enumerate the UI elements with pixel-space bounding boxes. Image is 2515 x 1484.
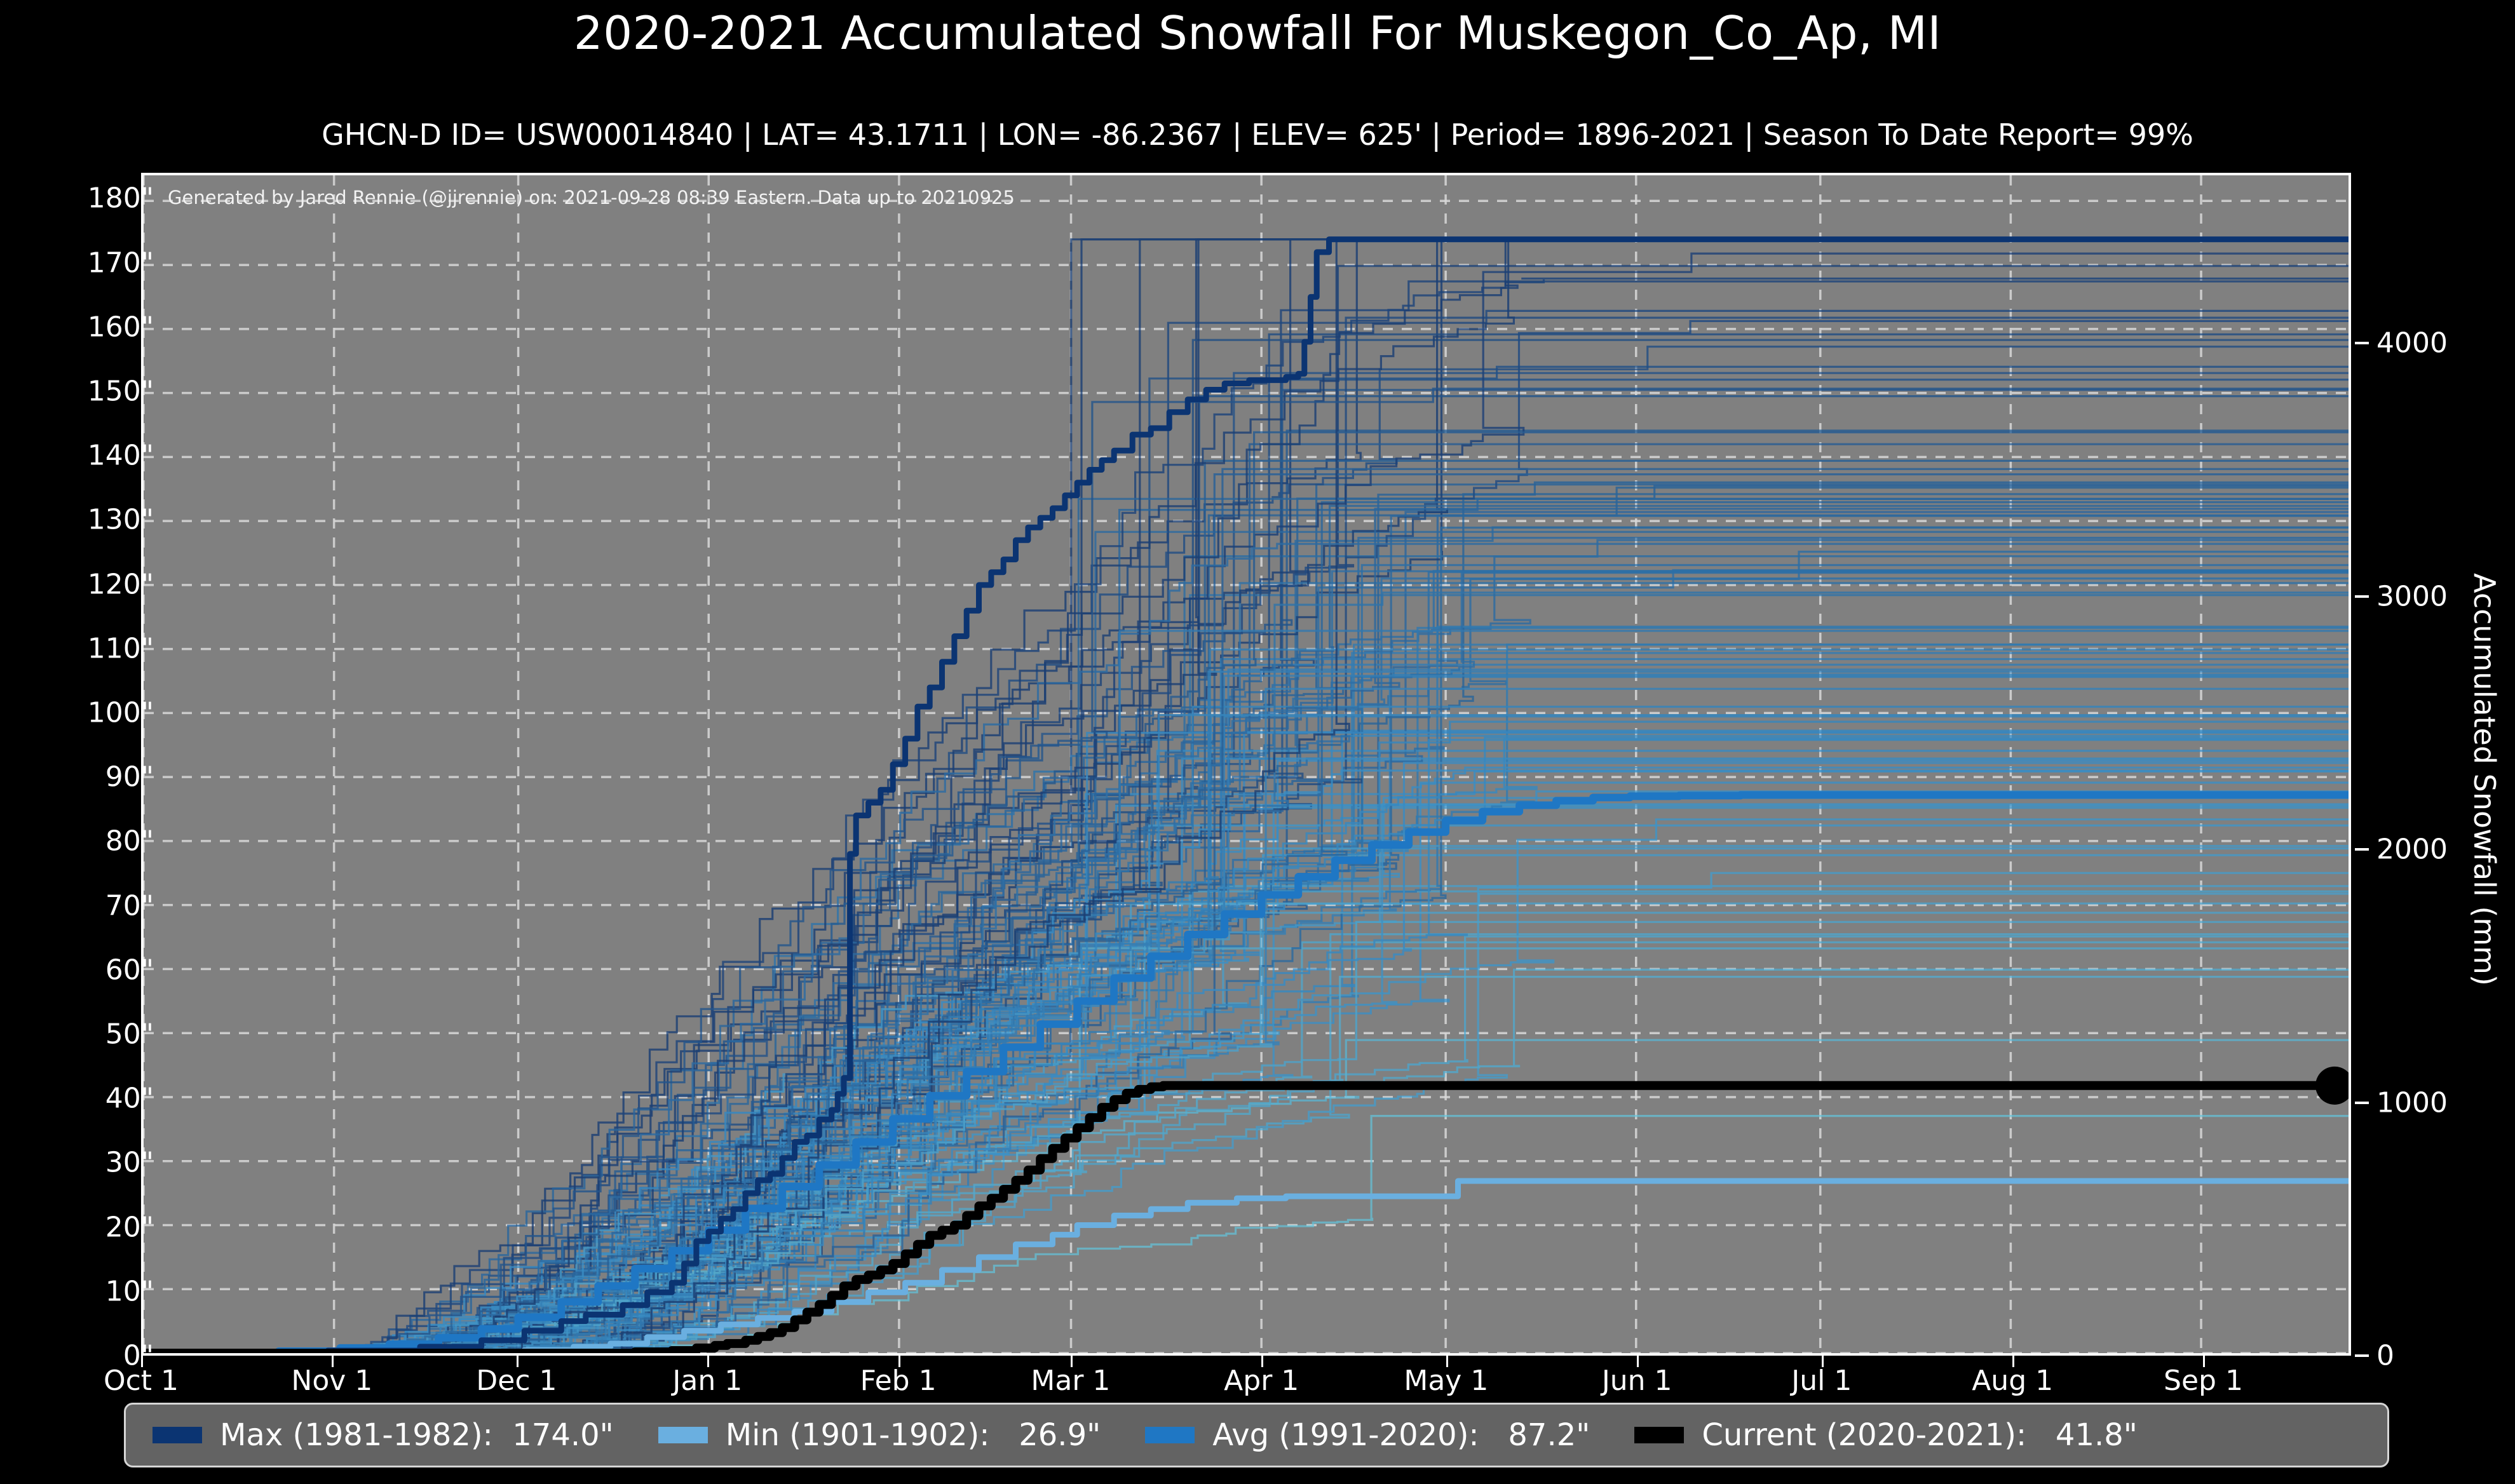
historical-trace	[144, 808, 2349, 1353]
y-axis-label-right: Accumulated Snowfall (mm)	[2467, 557, 2502, 1002]
legend-entry-min-series[interactable]: Min (1901-1902): 26.9"	[658, 1417, 1101, 1453]
legend-label-avg-series: Avg (1991-2020): 87.2"	[1212, 1417, 1590, 1453]
historical-trace	[144, 934, 2349, 1353]
historical-trace	[144, 380, 2349, 1353]
y-tick-label-left: 160"	[88, 311, 154, 343]
x-tick-label: Jun 1	[1602, 1365, 1672, 1397]
chart-annotation: Generated by Jared Rennie (@jjrennie) on…	[168, 187, 1015, 208]
y-tick-label-left: 70"	[105, 889, 154, 922]
chart-canvas	[144, 175, 2349, 1353]
y-tick-mark-right	[2355, 342, 2369, 344]
x-tick-label: Mar 1	[1031, 1365, 1110, 1397]
x-tick-label: Aug 1	[1972, 1365, 2053, 1397]
series-current	[144, 1067, 2349, 1353]
x-tick-label: May 1	[1404, 1365, 1488, 1397]
y-tick-label-left: 170"	[88, 246, 154, 279]
historical-trace	[144, 281, 2349, 1353]
legend-swatch-min-series	[658, 1427, 708, 1443]
chart-legend: Max (1981-1982): 174.0"Min (1901-1902): …	[124, 1403, 2389, 1467]
y-tick-label-left: 140"	[88, 440, 154, 472]
y-tick-label-right: 4000	[2376, 327, 2448, 360]
x-tick-label: Sep 1	[2164, 1365, 2243, 1397]
y-tick-label-left: 40"	[105, 1083, 154, 1115]
y-tick-mark-right	[2355, 1354, 2369, 1357]
y-tick-label-left: 50"	[105, 1018, 154, 1051]
y-tick-label-left: 30"	[105, 1147, 154, 1179]
legend-label-max-series: Max (1981-1982): 174.0"	[220, 1417, 614, 1453]
legend-entry-max-series[interactable]: Max (1981-1982): 174.0"	[153, 1417, 614, 1453]
y-tick-label-left: 100"	[88, 697, 154, 729]
y-tick-label-left: 60"	[105, 954, 154, 986]
historical-trace	[144, 527, 2349, 1353]
x-tick-label: Apr 1	[1224, 1365, 1299, 1397]
y-tick-mark-right	[2355, 595, 2369, 598]
historical-trace	[144, 573, 2349, 1353]
x-tick-label: Oct 1	[104, 1365, 179, 1397]
y-tick-label-right: 3000	[2376, 580, 2448, 612]
x-tick-label: Jan 1	[672, 1365, 742, 1397]
y-tick-label-right: 0	[2376, 1340, 2394, 1372]
historical-trace	[144, 538, 2349, 1353]
y-tick-label-left: 10"	[105, 1275, 154, 1307]
page-title: 2020-2021 Accumulated Snowfall For Muske…	[0, 6, 2515, 60]
legend-label-min-series: Min (1901-1902): 26.9"	[726, 1417, 1101, 1453]
y-tick-label-left: 20"	[105, 1211, 154, 1243]
plot-background: Generated by Jared Rennie (@jjrennie) on…	[141, 173, 2351, 1356]
legend-swatch-current-series	[1634, 1427, 1684, 1443]
historical-trace	[144, 761, 2349, 1354]
historical-trace	[144, 886, 2349, 1353]
x-tick-label: Feb 1	[860, 1365, 937, 1397]
y-tick-label-left: 120"	[88, 568, 154, 600]
historical-trace	[144, 671, 2349, 1353]
y-tick-label-right: 1000	[2376, 1086, 2448, 1119]
page-subtitle: GHCN-D ID= USW00014840 | LAT= 43.1711 | …	[0, 118, 2515, 152]
y-tick-label-left: 130"	[88, 504, 154, 536]
historical-trace	[144, 528, 2349, 1353]
legend-label-current-series: Current (2020-2021): 41.8"	[1702, 1417, 2138, 1453]
legend-entry-current-series[interactable]: Current (2020-2021): 41.8"	[1634, 1417, 2138, 1453]
y-tick-mark-right	[2355, 1102, 2369, 1104]
y-tick-label-right: 2000	[2376, 833, 2448, 866]
y-tick-mark-right	[2355, 848, 2369, 851]
historical-trace	[144, 677, 2349, 1353]
historical-trace	[144, 279, 2349, 1354]
x-tick-label: Jul 1	[1791, 1365, 1852, 1397]
historical-trace	[144, 570, 2349, 1354]
x-tick-label: Nov 1	[291, 1365, 372, 1397]
y-tick-label-left: 150"	[88, 375, 154, 408]
y-tick-label-left: 90"	[105, 761, 154, 793]
historical-trace	[144, 936, 2349, 1353]
historical-trace	[144, 722, 2349, 1353]
chart-plot-area: Generated by Jared Rennie (@jjrennie) on…	[141, 173, 2351, 1356]
x-tick-label: Dec 1	[476, 1365, 557, 1397]
legend-entry-avg-series[interactable]: Avg (1991-2020): 87.2"	[1145, 1417, 1590, 1453]
historical-trace	[144, 763, 2349, 1353]
legend-swatch-avg-series	[1145, 1427, 1195, 1443]
y-tick-label-left: 180"	[88, 182, 154, 215]
current-end-marker	[2315, 1067, 2349, 1105]
historical-trace	[144, 595, 2349, 1353]
legend-swatch-max-series	[153, 1427, 202, 1443]
y-tick-label-left: 110"	[88, 632, 154, 664]
series-line	[144, 1086, 2349, 1353]
y-tick-label-left: 80"	[105, 825, 154, 858]
